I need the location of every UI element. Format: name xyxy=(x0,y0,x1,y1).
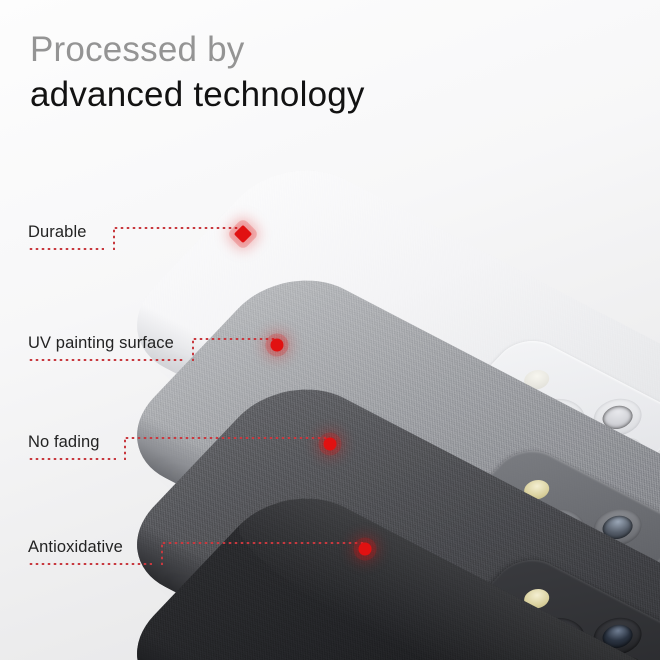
callout-underline xyxy=(28,359,183,361)
feature-callouts: Durable UV painting surface No fading xyxy=(0,0,660,660)
uv-painting-surface-marker xyxy=(271,339,284,352)
callout-underline xyxy=(28,563,152,565)
callout-underline xyxy=(28,248,104,250)
callout-no-fading: No fading xyxy=(28,432,116,460)
callout-durable: Durable xyxy=(28,222,104,250)
antioxidative-marker xyxy=(359,543,372,556)
no-fading-marker xyxy=(324,438,337,451)
callout-label: UV painting surface xyxy=(28,334,174,353)
callout-underline xyxy=(28,458,116,460)
callout-label: No fading xyxy=(28,433,100,452)
product-feature-banner: Processed by advanced technology xyxy=(0,0,660,660)
callout-label: Durable xyxy=(28,223,86,242)
callout-antioxidative: Antioxidative xyxy=(28,537,152,565)
callout-uv-painting-surface: UV painting surface xyxy=(28,333,183,361)
callout-label: Antioxidative xyxy=(28,538,123,557)
